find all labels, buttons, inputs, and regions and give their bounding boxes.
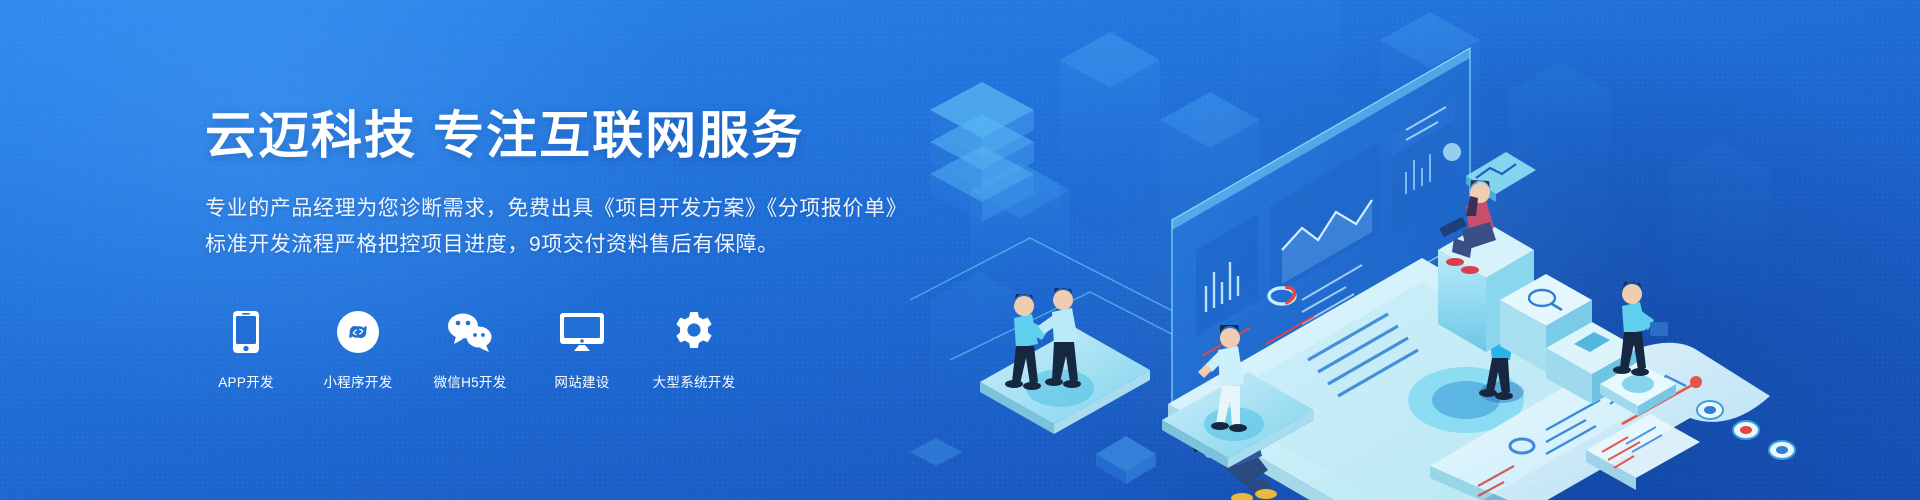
gear-icon: [653, 307, 735, 357]
wechat-icon: [429, 307, 511, 357]
service-label-miniprogram: 小程序开发: [324, 371, 393, 391]
page-title: 云迈科技 专注互联网服务: [205, 110, 965, 161]
promo-banner: 云迈科技 专注互联网服务 专业的产品经理为您诊断需求，免费出具《项目开发方案》《…: [0, 0, 1920, 500]
service-label-website: 网站建设: [554, 371, 609, 391]
service-item-miniprogram[interactable]: 小程序开发: [317, 307, 399, 391]
service-item-wechat[interactable]: 微信H5开发: [429, 307, 511, 391]
service-item-app[interactable]: APP开发: [205, 307, 287, 391]
service-list: APP开发 小程序开发: [205, 307, 965, 391]
subtitle-line-1: 专业的产品经理为您诊断需求，免费出具《项目开发方案》《分项报价单》: [205, 191, 965, 227]
service-label-system: 大型系统开发: [653, 371, 736, 391]
service-label-app: APP开发: [218, 371, 274, 391]
service-label-wechat: 微信H5开发: [433, 371, 506, 391]
mobile-phone-icon: [205, 307, 287, 357]
subtitle-line-2: 标准开发流程严格把控项目进度，9项交付资料售后有保障。: [205, 227, 965, 263]
banner-content: 云迈科技 专注互联网服务 专业的产品经理为您诊断需求，免费出具《项目开发方案》《…: [205, 0, 965, 500]
monitor-icon: [541, 307, 623, 357]
mini-program-icon: [317, 307, 399, 357]
service-item-website[interactable]: 网站建设: [541, 307, 623, 391]
service-item-system[interactable]: 大型系统开发: [653, 307, 735, 391]
banner-subtitle: 专业的产品经理为您诊断需求，免费出具《项目开发方案》《分项报价单》 标准开发流程…: [205, 191, 965, 263]
isometric-tech-illustration: [910, 0, 1920, 500]
